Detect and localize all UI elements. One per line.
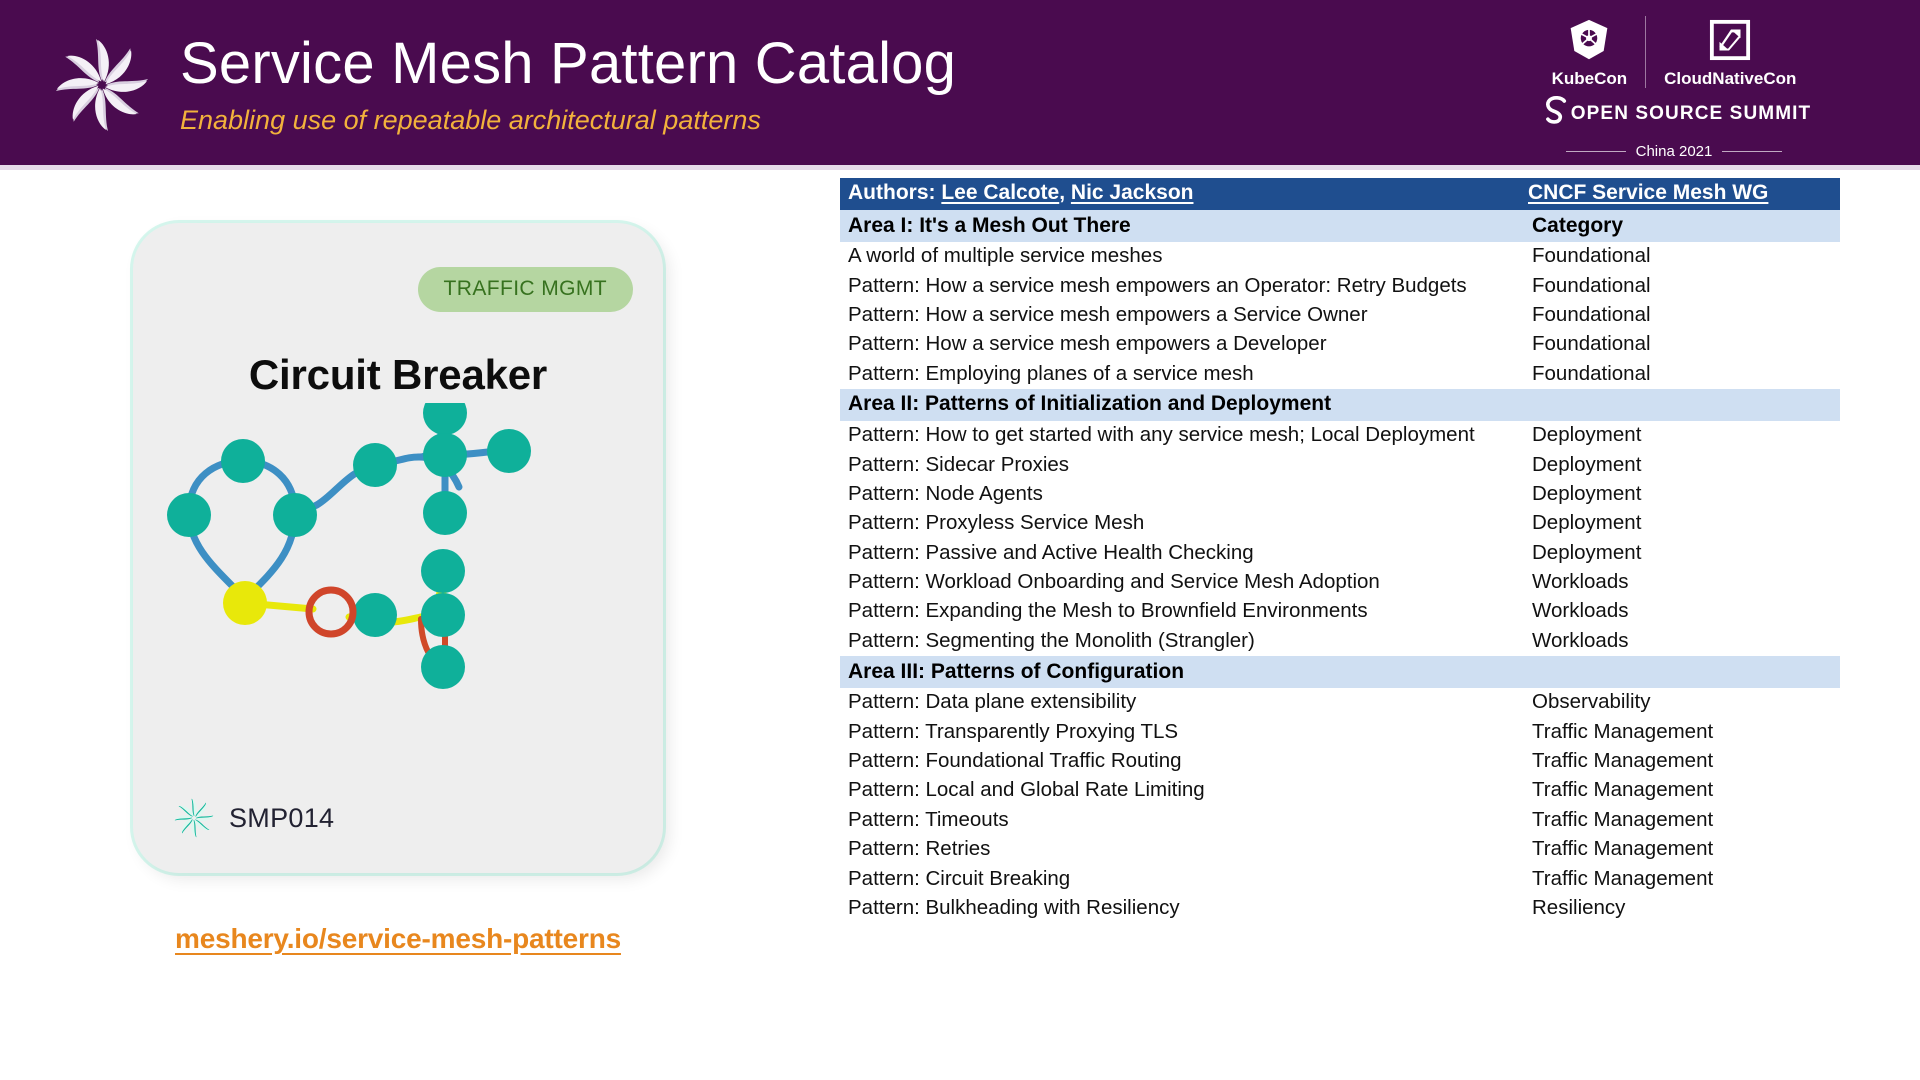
meshery-patterns-link[interactable]: meshery.io/service-mesh-patterns — [133, 923, 663, 955]
area-title: Area I: It's a Mesh Out There — [840, 210, 1524, 242]
open-source-summit-label: OPEN SOURCE SUMMIT — [1571, 103, 1811, 125]
pattern-name-cell: Pattern: How to get started with any ser… — [840, 421, 1524, 450]
pattern-category-cell: Deployment — [1524, 539, 1840, 568]
circuit-breaker-open-icon — [309, 590, 353, 634]
page-subtitle: Enabling use of repeatable architectural… — [180, 105, 956, 136]
pattern-category-cell: Foundational — [1524, 360, 1840, 389]
pattern-category-cell: Foundational — [1524, 242, 1840, 271]
pattern-name-cell: Pattern: Employing planes of a service m… — [840, 360, 1524, 389]
table-row[interactable]: Pattern: Workload Onboarding and Service… — [840, 568, 1840, 597]
source-node — [223, 581, 267, 625]
pattern-category-cell: Traffic Management — [1524, 776, 1840, 805]
meshery-pinwheel-icon — [173, 797, 215, 839]
pattern-name-cell: Pattern: How a service mesh empowers a S… — [840, 301, 1524, 330]
pattern-category-cell: Traffic Management — [1524, 747, 1840, 776]
pattern-catalog-body: Authors: Lee Calcote, Nic JacksonCNCF Se… — [840, 178, 1840, 923]
pattern-name-cell: Pattern: Sidecar Proxies — [840, 450, 1524, 479]
pattern-name-cell: A world of multiple service meshes — [840, 242, 1524, 271]
kubecon-label: KubeCon — [1552, 69, 1628, 89]
pattern-name-cell: Pattern: Transparently Proxying TLS — [840, 717, 1524, 746]
pattern-card-pane: TRAFFIC MGMT Circuit Breaker — [0, 175, 830, 1080]
cloudnativecon-brand: CloudNativeCon — [1646, 17, 1814, 89]
pattern-category-cell: Traffic Management — [1524, 864, 1840, 893]
pattern-name-cell: Pattern: Circuit Breaking — [840, 864, 1524, 893]
pattern-category-cell: Foundational — [1524, 301, 1840, 330]
authors-row: Authors: Lee Calcote, Nic JacksonCNCF Se… — [840, 178, 1840, 210]
table-row[interactable]: Pattern: Node AgentsDeployment — [840, 480, 1840, 509]
pattern-name-cell: Pattern: Local and Global Rate Limiting — [840, 776, 1524, 805]
table-row[interactable]: Pattern: Expanding the Mesh to Brownfiel… — [840, 597, 1840, 626]
pattern-category-cell: Foundational — [1524, 330, 1840, 359]
header-title-block: Service Mesh Pattern Catalog Enabling us… — [180, 34, 956, 136]
pattern-category-cell: Observability — [1524, 688, 1840, 717]
authors-cell: Authors: Lee Calcote, Nic Jackson — [840, 178, 1524, 210]
pattern-name-cell: Pattern: Bulkheading with Resiliency — [840, 894, 1524, 923]
pattern-name-cell: Pattern: Node Agents — [840, 480, 1524, 509]
pattern-name-cell: Pattern: Expanding the Mesh to Brownfiel… — [840, 597, 1524, 626]
year-rule-left — [1566, 151, 1626, 152]
area-header-row: Area II: Patterns of Initialization and … — [840, 389, 1840, 421]
area-category-header — [1524, 389, 1840, 421]
pattern-card-title: Circuit Breaker — [133, 351, 663, 399]
area-header-row: Area III: Patterns of Configuration — [840, 656, 1840, 688]
pattern-catalog-table: Authors: Lee Calcote, Nic JacksonCNCF Se… — [840, 178, 1840, 923]
pattern-category-cell: Deployment — [1524, 450, 1840, 479]
author-link[interactable]: Nic Jackson — [1071, 181, 1194, 204]
pattern-category-cell: Deployment — [1524, 509, 1840, 538]
table-row[interactable]: Pattern: Passive and Active Health Check… — [840, 539, 1840, 568]
pattern-category-cell: Workloads — [1524, 597, 1840, 626]
year-rule-right — [1722, 151, 1782, 152]
table-row[interactable]: Pattern: Bulkheading with ResiliencyResi… — [840, 894, 1840, 923]
table-row[interactable]: Pattern: Data plane extensibilityObserva… — [840, 688, 1840, 717]
table-row[interactable]: Pattern: How a service mesh empowers a S… — [840, 301, 1840, 330]
page-header: Service Mesh Pattern Catalog Enabling us… — [0, 0, 1920, 170]
pattern-name-cell: Pattern: Foundational Traffic Routing — [840, 747, 1524, 776]
table-row[interactable]: Pattern: Sidecar ProxiesDeployment — [840, 450, 1840, 479]
pattern-card[interactable]: TRAFFIC MGMT Circuit Breaker — [133, 223, 663, 873]
logo-divider — [1645, 16, 1646, 88]
area-category-header — [1524, 656, 1840, 688]
working-group-cell[interactable]: CNCF Service Mesh WG — [1524, 178, 1840, 210]
pattern-category-cell: Resiliency — [1524, 894, 1840, 923]
conference-year-label: China 2021 — [1636, 143, 1713, 160]
kubernetes-helm-icon — [1566, 17, 1612, 63]
table-row[interactable]: Pattern: Proxyless Service MeshDeploymen… — [840, 509, 1840, 538]
table-row[interactable]: Pattern: Transparently Proxying TLSTraff… — [840, 717, 1840, 746]
pattern-name-cell: Pattern: Retries — [840, 835, 1524, 864]
area-title: Area III: Patterns of Configuration — [840, 656, 1524, 688]
pattern-name-cell: Pattern: How a service mesh empowers an … — [840, 271, 1524, 300]
table-row[interactable]: Pattern: Local and Global Rate LimitingT… — [840, 776, 1840, 805]
pattern-category-cell: Foundational — [1524, 271, 1840, 300]
page-title: Service Mesh Pattern Catalog — [180, 34, 956, 95]
pattern-category-cell: Traffic Management — [1524, 835, 1840, 864]
table-row[interactable]: Pattern: Foundational Traffic RoutingTra… — [840, 747, 1840, 776]
pattern-card-footer: SMP014 — [173, 797, 334, 839]
cloudnativecon-label: CloudNativeCon — [1664, 69, 1796, 89]
conference-logo-block: KubeCon CloudNativeCon — [1484, 10, 1864, 160]
pattern-category-cell: Workloads — [1524, 568, 1840, 597]
area-category-header: Category — [1524, 210, 1840, 242]
pattern-name-cell: Pattern: Segmenting the Monolith (Strang… — [840, 627, 1524, 656]
pattern-name-cell: Pattern: How a service mesh empowers a D… — [840, 330, 1524, 359]
pattern-name-cell: Pattern: Timeouts — [840, 806, 1524, 835]
table-row[interactable]: Pattern: RetriesTraffic Management — [840, 835, 1840, 864]
meshery-pinwheel-logo-icon — [52, 35, 152, 135]
pattern-category-cell: Traffic Management — [1524, 717, 1840, 746]
table-row[interactable]: A world of multiple service meshesFounda… — [840, 242, 1840, 271]
service-mesh-network-diagram — [153, 403, 643, 733]
pattern-catalog-table-wrap: Authors: Lee Calcote, Nic JacksonCNCF Se… — [840, 178, 1840, 923]
pattern-name-cell: Pattern: Workload Onboarding and Service… — [840, 568, 1524, 597]
pattern-id-label: SMP014 — [229, 803, 334, 834]
status-badge: TRAFFIC MGMT — [418, 267, 633, 312]
working-group-link[interactable]: CNCF Service Mesh WG — [1528, 181, 1768, 204]
table-row[interactable]: Pattern: TimeoutsTraffic Management — [840, 806, 1840, 835]
kubecon-brand: KubeCon — [1534, 17, 1646, 89]
cloudnativecon-square-icon — [1709, 17, 1751, 63]
pattern-category-cell: Deployment — [1524, 480, 1840, 509]
table-row[interactable]: Pattern: Employing planes of a service m… — [840, 360, 1840, 389]
pattern-category-cell: Traffic Management — [1524, 806, 1840, 835]
pattern-name-cell: Pattern: Proxyless Service Mesh — [840, 509, 1524, 538]
table-row[interactable]: Pattern: How to get started with any ser… — [840, 421, 1840, 450]
area-header-row: Area I: It's a Mesh Out ThereCategory — [840, 210, 1840, 242]
author-link[interactable]: Lee Calcote — [941, 181, 1059, 204]
table-row[interactable]: Pattern: How a service mesh empowers an … — [840, 271, 1840, 300]
header-underline — [0, 165, 1920, 170]
area-title: Area II: Patterns of Initialization and … — [840, 389, 1524, 421]
table-row[interactable]: Pattern: Segmenting the Monolith (Strang… — [840, 627, 1840, 656]
authors-label: Authors: — [848, 181, 936, 204]
pattern-name-cell: Pattern: Data plane extensibility — [840, 688, 1524, 717]
table-row[interactable]: Pattern: How a service mesh empowers a D… — [840, 330, 1840, 359]
pattern-category-cell: Deployment — [1524, 421, 1840, 450]
pattern-category-cell: Workloads — [1524, 627, 1840, 656]
pattern-name-cell: Pattern: Passive and Active Health Check… — [840, 539, 1524, 568]
table-row[interactable]: Pattern: Circuit BreakingTraffic Managem… — [840, 864, 1840, 893]
